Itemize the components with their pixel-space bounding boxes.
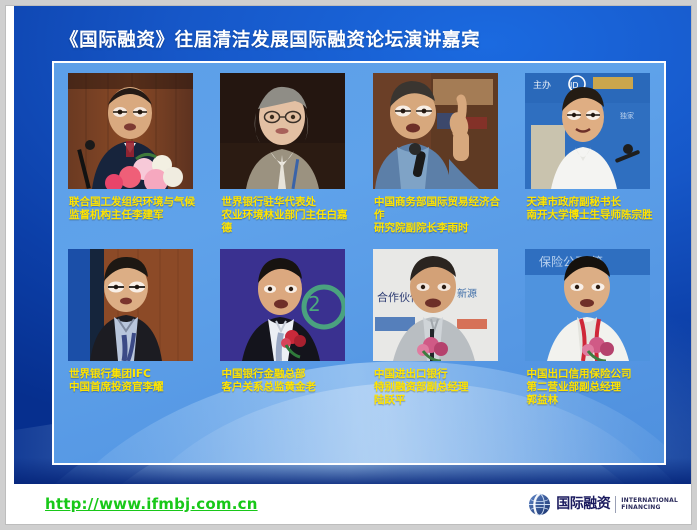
guest-caption-2: 世界银行驻华代表处 农业环境林业部门主任白嘉德: [211, 196, 356, 235]
guest-card-5: 世界银行集团IFC 中国首席投资官李耀: [54, 249, 207, 407]
guest-card-2: 世界银行驻华代表处 农业环境林业部门主任白嘉德: [207, 73, 360, 235]
guest-caption-3: 中国商务部国际贸易经济合作 研究院副院长李雨时: [363, 196, 508, 235]
guest-caption-8: 中国出口信用保险公司 第二营业部副总经理 郭益林: [516, 368, 661, 407]
guest-card-8: 保险公司 第: [512, 249, 665, 407]
photo-guo-yilin: 保险公司 第: [525, 249, 650, 361]
guest-caption-5: 世界银行集团IFC 中国首席投资官李耀: [58, 368, 203, 407]
brand-en-line1: INTERNATIONAL: [621, 497, 678, 504]
svg-text:新源: 新源: [457, 287, 477, 300]
guest-caption-6: 中国银行金融总部 客户关系总监黄金老: [211, 368, 356, 407]
svg-text:独家: 独家: [620, 111, 634, 120]
brand-en-line2: FINANCING: [621, 504, 660, 511]
brand-divider: [615, 496, 616, 513]
guest-caption-1: 联合国工发组织环境与气候 监督机构主任李建军: [58, 196, 203, 222]
guests-grid: 联合国工发组织环境与气候 监督机构主任李建军: [54, 63, 664, 407]
brand-logo: 国际融资 INTERNATIONAL FINANCING: [528, 489, 678, 519]
guests-row-2: 世界银行集团IFC 中国首席投资官李耀 2: [54, 249, 664, 407]
photo-huang-jinlao: 2: [220, 249, 345, 361]
guest-card-1: 联合国工发组织环境与气候 监督机构主任李建军: [54, 73, 207, 235]
photo-li-yao: [68, 249, 193, 361]
guests-row-1: 联合国工发组织环境与气候 监督机构主任李建军: [54, 73, 664, 235]
photo-bai-jiade: [220, 73, 345, 189]
guest-card-6: 2: [207, 249, 360, 407]
photo-lu-yueping: 合作伙伴 新源: [373, 249, 498, 361]
brand-name-en: INTERNATIONAL FINANCING: [621, 497, 678, 512]
slide-footer: http://www.ifmbj.com.cn 国际融资 INTERNATION…: [14, 484, 691, 524]
guest-card-4: 主办 ID 独家: [512, 73, 665, 235]
slide-canvas: 《国际融资》往届清洁发展国际融资论坛演讲嘉宾: [0, 0, 697, 530]
svg-text:主办: 主办: [533, 79, 551, 91]
globe-icon: [528, 493, 551, 516]
photo-li-jianjun: [68, 73, 193, 189]
photo-chen-zongsheng: 主办 ID 独家: [525, 73, 650, 189]
guest-caption-7: 中国进出口银行 特别融资部副总经理 陆跃平: [363, 368, 508, 407]
guest-card-7: 合作伙伴 新源: [359, 249, 512, 407]
slide-title: 《国际融资》往届清洁发展国际融资论坛演讲嘉宾: [60, 26, 480, 52]
brand-name-cn: 国际融资: [556, 497, 610, 511]
guest-caption-4: 天津市政府副秘书长 南开大学博士生导师陈宗胜: [516, 196, 661, 222]
website-link[interactable]: http://www.ifmbj.com.cn: [45, 495, 258, 513]
photo-li-yushi: [373, 73, 498, 189]
presentation-slide: 《国际融资》往届清洁发展国际融资论坛演讲嘉宾: [14, 6, 691, 484]
svg-text:2: 2: [308, 292, 321, 316]
guests-panel: 联合国工发组织环境与气候 监督机构主任李建军: [52, 61, 666, 465]
guest-card-3: 中国商务部国际贸易经济合作 研究院副院长李雨时: [359, 73, 512, 235]
